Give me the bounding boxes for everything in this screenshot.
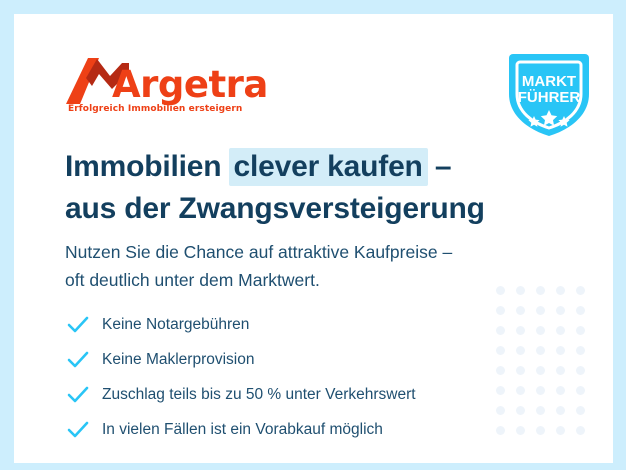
badge-line1: MARKT bbox=[522, 73, 576, 90]
logo-row: Argetra bbox=[66, 54, 251, 106]
check-icon bbox=[66, 383, 90, 407]
check-icon bbox=[66, 418, 90, 442]
subtitle-line2: oft deutlich unter dem Marktwert. bbox=[65, 266, 565, 294]
list-item: Keine Maklerprovision bbox=[66, 345, 416, 375]
argetra-logo[interactable]: Argetra Erfolgreich Immobilien ersteiger… bbox=[66, 54, 251, 106]
list-item-label: Keine Maklerprovision bbox=[102, 351, 255, 369]
dot-grid-decoration bbox=[491, 281, 591, 441]
promo-card: Argetra Erfolgreich Immobilien ersteiger… bbox=[14, 14, 613, 463]
badge-line2: FÜHRER bbox=[518, 89, 581, 106]
marktfuehrer-badge: MARKT FÜHRER bbox=[503, 50, 595, 138]
headline-line2: aus der Zwangsversteigerung bbox=[65, 190, 545, 228]
check-icon bbox=[66, 348, 90, 372]
list-item-label: Zuschlag teils bis zu 50 % unter Verkehr… bbox=[102, 386, 416, 404]
subtitle: Nutzen Sie die Chance auf attraktive Kau… bbox=[65, 238, 565, 294]
headline-highlight: clever kaufen bbox=[229, 148, 428, 186]
headline-pre: Immobilien bbox=[65, 150, 230, 183]
benefits-list: Keine Notargebühren Keine Maklerprovisio… bbox=[66, 310, 416, 450]
page-title: Immobilien clever kaufen – aus der Zwang… bbox=[65, 148, 545, 228]
list-item-label: Keine Notargebühren bbox=[102, 316, 249, 334]
promo-banner: Argetra Erfolgreich Immobilien ersteiger… bbox=[0, 0, 626, 470]
headline-line1: Immobilien clever kaufen – bbox=[65, 150, 451, 183]
logo-wordmark: Argetra bbox=[112, 63, 268, 106]
list-item: In vielen Fällen ist ein Vorabkauf mögli… bbox=[66, 415, 416, 445]
list-item: Zuschlag teils bis zu 50 % unter Verkehr… bbox=[66, 380, 416, 410]
logo-tagline: Erfolgreich Immobilien ersteigern bbox=[68, 104, 242, 114]
list-item: Keine Notargebühren bbox=[66, 310, 416, 340]
list-item-label: In vielen Fällen ist ein Vorabkauf mögli… bbox=[102, 421, 383, 439]
subtitle-line1: Nutzen Sie die Chance auf attraktive Kau… bbox=[65, 238, 565, 266]
check-icon bbox=[66, 313, 90, 337]
headline-post: – bbox=[427, 150, 452, 183]
